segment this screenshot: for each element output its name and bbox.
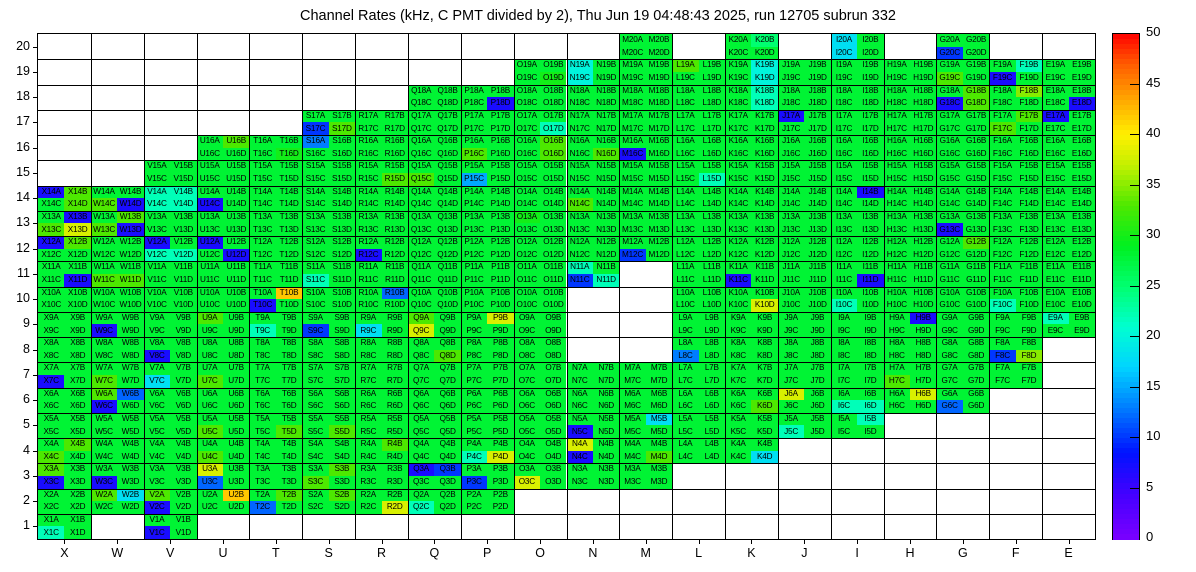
- heatmap-cell[interactable]: S17AS17BS17CS17D: [302, 110, 355, 135]
- heatmap-cell[interactable]: S6AS6BS6CS6D: [302, 388, 355, 413]
- heatmap-subcell[interactable]: X10C: [38, 299, 64, 312]
- heatmap-subcell[interactable]: E9C: [1042, 324, 1068, 337]
- heatmap-subcell[interactable]: T10D: [276, 299, 302, 312]
- heatmap-subcell[interactable]: E14C: [1042, 198, 1068, 211]
- heatmap-subcell[interactable]: S8C: [302, 350, 328, 363]
- heatmap-cell[interactable]: X1AX1BX1CX1D: [38, 514, 91, 539]
- heatmap-subcell[interactable]: Q3D: [434, 476, 460, 489]
- heatmap-subcell[interactable]: M18C: [619, 97, 645, 110]
- heatmap-subcell[interactable]: P17A: [461, 110, 487, 123]
- heatmap-cell[interactable]: N18AN18BN18CN18D: [567, 85, 620, 110]
- heatmap-cell[interactable]: G12AG12BG12CG12D: [936, 236, 989, 261]
- heatmap-subcell[interactable]: I19A: [831, 59, 857, 72]
- heatmap-subcell[interactable]: S8B: [329, 337, 355, 350]
- heatmap-subcell[interactable]: H19C: [884, 72, 910, 85]
- heatmap-subcell[interactable]: U12B: [223, 236, 249, 249]
- heatmap-subcell[interactable]: U6D: [223, 400, 249, 413]
- heatmap-subcell[interactable]: Q5B: [434, 413, 460, 426]
- heatmap-subcell[interactable]: S14C: [302, 198, 328, 211]
- heatmap-subcell[interactable]: P9B: [487, 312, 513, 325]
- heatmap-cell[interactable]: X11AX11BX11CX11D: [38, 261, 91, 286]
- heatmap-subcell[interactable]: M15A: [619, 160, 645, 173]
- heatmap-subcell[interactable]: O10D: [540, 299, 566, 312]
- heatmap-subcell[interactable]: X7D: [64, 375, 90, 388]
- heatmap-subcell[interactable]: O19C: [514, 72, 540, 85]
- heatmap-cell[interactable]: G11AG11BG11CG11D: [936, 261, 989, 286]
- heatmap-subcell[interactable]: K4A: [725, 438, 751, 451]
- heatmap-subcell[interactable]: U7B: [223, 362, 249, 375]
- heatmap-subcell[interactable]: U11A: [197, 261, 223, 274]
- heatmap-subcell[interactable]: Q6A: [408, 388, 434, 401]
- heatmap-subcell[interactable]: E9B: [1069, 312, 1095, 325]
- heatmap-subcell[interactable]: N3D: [593, 476, 619, 489]
- heatmap-subcell[interactable]: S11D: [329, 274, 355, 287]
- heatmap-subcell[interactable]: L19C: [672, 72, 698, 85]
- heatmap-subcell[interactable]: J10D: [804, 299, 830, 312]
- heatmap-subcell[interactable]: R2A: [355, 489, 381, 502]
- heatmap-subcell[interactable]: K8A: [725, 337, 751, 350]
- heatmap-subcell[interactable]: I8C: [831, 350, 857, 363]
- heatmap-subcell[interactable]: K7A: [725, 362, 751, 375]
- heatmap-subcell[interactable]: X13B: [64, 211, 90, 224]
- heatmap-subcell[interactable]: I14D: [857, 198, 883, 211]
- heatmap-subcell[interactable]: N7B: [593, 362, 619, 375]
- heatmap-cell[interactable]: V15AV15BV15CV15D: [144, 160, 197, 185]
- heatmap-subcell[interactable]: Q5D: [434, 425, 460, 438]
- heatmap-subcell[interactable]: P13A: [461, 211, 487, 224]
- heatmap-subcell[interactable]: U3C: [197, 476, 223, 489]
- heatmap-subcell[interactable]: Q6C: [408, 400, 434, 413]
- heatmap-cell[interactable]: F10AF10BF10CF10D: [989, 287, 1042, 312]
- heatmap-subcell[interactable]: L16D: [699, 148, 725, 161]
- heatmap-subcell[interactable]: L5A: [672, 413, 698, 426]
- heatmap-cell[interactable]: L5AL5BL5CL5D: [672, 413, 725, 438]
- heatmap-subcell[interactable]: J16D: [804, 148, 830, 161]
- heatmap-subcell[interactable]: I16C: [831, 148, 857, 161]
- heatmap-cell[interactable]: L17AL17BL17CL17D: [672, 110, 725, 135]
- heatmap-subcell[interactable]: L13D: [699, 223, 725, 236]
- heatmap-subcell[interactable]: V9A: [144, 312, 170, 325]
- heatmap-subcell[interactable]: P11C: [461, 274, 487, 287]
- heatmap-subcell[interactable]: Q13C: [408, 223, 434, 236]
- heatmap-subcell[interactable]: G7B: [963, 362, 989, 375]
- heatmap-cell[interactable]: X3AX3BX3CX3D: [38, 463, 91, 488]
- heatmap-subcell[interactable]: X14B: [64, 186, 90, 199]
- heatmap-subcell[interactable]: J6C: [778, 400, 804, 413]
- heatmap-subcell[interactable]: F8B: [1016, 337, 1042, 350]
- heatmap-subcell[interactable]: G15A: [936, 160, 962, 173]
- heatmap-cell[interactable]: U11AU11BU11CU11D: [197, 261, 250, 286]
- heatmap-subcell[interactable]: Q15B: [434, 160, 460, 173]
- heatmap-subcell[interactable]: R11A: [355, 261, 381, 274]
- heatmap-subcell[interactable]: I7B: [857, 362, 883, 375]
- heatmap-subcell[interactable]: O15B: [540, 160, 566, 173]
- heatmap-subcell[interactable]: V7A: [144, 362, 170, 375]
- heatmap-subcell[interactable]: P13D: [487, 223, 513, 236]
- heatmap-subcell[interactable]: S13B: [329, 211, 355, 224]
- heatmap-subcell[interactable]: P12D: [487, 249, 513, 262]
- heatmap-cell[interactable]: Q16AQ16BQ16CQ16D: [408, 135, 461, 160]
- heatmap-subcell[interactable]: P8B: [487, 337, 513, 350]
- heatmap-subcell[interactable]: N17B: [593, 110, 619, 123]
- heatmap-subcell[interactable]: I18A: [831, 85, 857, 98]
- heatmap-subcell[interactable]: F17C: [989, 122, 1015, 135]
- heatmap-subcell[interactable]: P12B: [487, 236, 513, 249]
- heatmap-subcell[interactable]: K14B: [751, 186, 777, 199]
- heatmap-cell[interactable]: H9AH9BH9CH9D: [884, 312, 937, 337]
- heatmap-subcell[interactable]: P16B: [487, 135, 513, 148]
- heatmap-subcell[interactable]: P8D: [487, 350, 513, 363]
- heatmap-subcell[interactable]: V14D: [170, 198, 196, 211]
- heatmap-subcell[interactable]: K16C: [725, 148, 751, 161]
- heatmap-cell[interactable]: W11AW11BW11CW11D: [91, 261, 144, 286]
- heatmap-subcell[interactable]: G7A: [936, 362, 962, 375]
- heatmap-subcell[interactable]: W7D: [117, 375, 143, 388]
- heatmap-subcell[interactable]: I18C: [831, 97, 857, 110]
- heatmap-subcell[interactable]: R6C: [355, 400, 381, 413]
- heatmap-subcell[interactable]: N19A: [567, 59, 593, 72]
- heatmap-subcell[interactable]: W4A: [91, 438, 117, 451]
- heatmap-cell[interactable]: S9AS9BS9CS9D: [302, 312, 355, 337]
- heatmap-subcell[interactable]: M7C: [619, 375, 645, 388]
- heatmap-subcell[interactable]: P2B: [487, 489, 513, 502]
- heatmap-subcell[interactable]: M14C: [619, 198, 645, 211]
- heatmap-subcell[interactable]: R4A: [355, 438, 381, 451]
- heatmap-subcell[interactable]: R8D: [382, 350, 408, 363]
- heatmap-subcell[interactable]: J18D: [804, 97, 830, 110]
- heatmap-subcell[interactable]: R11C: [355, 274, 381, 287]
- heatmap-subcell[interactable]: O19A: [514, 59, 540, 72]
- heatmap-subcell[interactable]: J10A: [778, 287, 804, 300]
- heatmap-subcell[interactable]: W12A: [91, 236, 117, 249]
- heatmap-subcell[interactable]: V5C: [144, 425, 170, 438]
- heatmap-subcell[interactable]: E15A: [1042, 160, 1068, 173]
- heatmap-subcell[interactable]: H10D: [910, 299, 936, 312]
- heatmap-cell[interactable]: K6AK6BK6CK6D: [725, 388, 778, 413]
- heatmap-subcell[interactable]: F14A: [989, 186, 1015, 199]
- heatmap-cell[interactable]: V9AV9BV9CV9D: [144, 312, 197, 337]
- heatmap-subcell[interactable]: X13D: [64, 223, 90, 236]
- heatmap-cell[interactable]: L15AL15BL15CL15D: [672, 160, 725, 185]
- heatmap-subcell[interactable]: O4D: [540, 451, 566, 464]
- heatmap-subcell[interactable]: M17D: [646, 122, 672, 135]
- heatmap-subcell[interactable]: V6B: [170, 388, 196, 401]
- heatmap-subcell[interactable]: O16C: [514, 148, 540, 161]
- heatmap-subcell[interactable]: S2B: [329, 489, 355, 502]
- heatmap-subcell[interactable]: Q2A: [408, 489, 434, 502]
- heatmap-subcell[interactable]: I6B: [857, 388, 883, 401]
- heatmap-subcell[interactable]: M19B: [646, 59, 672, 72]
- heatmap-subcell[interactable]: V12B: [170, 236, 196, 249]
- heatmap-subcell[interactable]: I8B: [857, 337, 883, 350]
- heatmap-subcell[interactable]: L4B: [699, 438, 725, 451]
- heatmap-cell[interactable]: V3AV3BV3CV3D: [144, 463, 197, 488]
- heatmap-subcell[interactable]: J6B: [804, 388, 830, 401]
- heatmap-subcell[interactable]: J6D: [804, 400, 830, 413]
- heatmap-subcell[interactable]: F19B: [1016, 59, 1042, 72]
- heatmap-subcell[interactable]: K7B: [751, 362, 777, 375]
- heatmap-subcell[interactable]: G9C: [936, 324, 962, 337]
- heatmap-cell[interactable]: L16AL16BL16CL16D: [672, 135, 725, 160]
- heatmap-subcell[interactable]: I14B: [857, 186, 883, 199]
- heatmap-subcell[interactable]: X5C: [38, 425, 64, 438]
- heatmap-subcell[interactable]: F15D: [1016, 173, 1042, 186]
- heatmap-subcell[interactable]: L17A: [672, 110, 698, 123]
- heatmap-subcell[interactable]: Q11C: [408, 274, 434, 287]
- heatmap-subcell[interactable]: P7A: [461, 362, 487, 375]
- heatmap-cell[interactable]: E10AE10BE10CE10D: [1042, 287, 1095, 312]
- heatmap-subcell[interactable]: F12C: [989, 249, 1015, 262]
- heatmap-cell[interactable]: N17AN17BN17CN17D: [567, 110, 620, 135]
- heatmap-subcell[interactable]: Q11D: [434, 274, 460, 287]
- heatmap-subcell[interactable]: R13D: [382, 223, 408, 236]
- heatmap-subcell[interactable]: W6A: [91, 388, 117, 401]
- heatmap-cell[interactable]: H17AH17BH17CH17D: [884, 110, 937, 135]
- heatmap-subcell[interactable]: J14D: [804, 198, 830, 211]
- heatmap-subcell[interactable]: V10C: [144, 299, 170, 312]
- heatmap-subcell[interactable]: H8A: [884, 337, 910, 350]
- heatmap-subcell[interactable]: N12B: [593, 236, 619, 249]
- heatmap-cell[interactable]: N11AN11BN11CN11D: [567, 261, 620, 286]
- heatmap-subcell[interactable]: X11C: [38, 274, 64, 287]
- heatmap-subcell[interactable]: J9D: [804, 324, 830, 337]
- heatmap-cell[interactable]: L6AL6BL6CL6D: [672, 388, 725, 413]
- heatmap-subcell[interactable]: M16C: [619, 148, 645, 161]
- heatmap-subcell[interactable]: Q18D: [434, 97, 460, 110]
- heatmap-subcell[interactable]: Q12D: [434, 249, 460, 262]
- heatmap-subcell[interactable]: U6C: [197, 400, 223, 413]
- heatmap-subcell[interactable]: N16B: [593, 135, 619, 148]
- heatmap-cell[interactable]: Q6AQ6BQ6CQ6D: [408, 388, 461, 413]
- heatmap-cell[interactable]: I20AI20BI20CI20D: [831, 34, 884, 59]
- heatmap-subcell[interactable]: L7B: [699, 362, 725, 375]
- heatmap-subcell[interactable]: U14B: [223, 186, 249, 199]
- heatmap-subcell[interactable]: U11B: [223, 261, 249, 274]
- heatmap-cell[interactable]: L11AL11BL11CL11D: [672, 261, 725, 286]
- heatmap-subcell[interactable]: Q2B: [434, 489, 460, 502]
- heatmap-subcell[interactable]: E10C: [1042, 299, 1068, 312]
- heatmap-subcell[interactable]: M13A: [619, 211, 645, 224]
- heatmap-cell[interactable]: R16AR16BR16CR16D: [355, 135, 408, 160]
- heatmap-subcell[interactable]: R15B: [382, 160, 408, 173]
- heatmap-subcell[interactable]: U2C: [197, 501, 223, 514]
- heatmap-subcell[interactable]: V4C: [144, 451, 170, 464]
- heatmap-subcell[interactable]: X12A: [38, 236, 64, 249]
- heatmap-cell[interactable]: T7AT7BT7CT7D: [249, 362, 302, 387]
- heatmap-cell[interactable]: X4AX4BX4CX4D: [38, 438, 91, 463]
- heatmap-subcell[interactable]: S5C: [302, 425, 328, 438]
- heatmap-subcell[interactable]: J13C: [778, 223, 804, 236]
- heatmap-subcell[interactable]: H15A: [884, 160, 910, 173]
- heatmap-subcell[interactable]: S12D: [329, 249, 355, 262]
- heatmap-subcell[interactable]: R5A: [355, 413, 381, 426]
- heatmap-cell[interactable]: W7AW7BW7CW7D: [91, 362, 144, 387]
- heatmap-cell[interactable]: J10AJ10BJ10CJ10D: [778, 287, 831, 312]
- heatmap-subcell[interactable]: O8A: [514, 337, 540, 350]
- heatmap-cell[interactable]: I15AI15BI15CI15D: [831, 160, 884, 185]
- heatmap-cell[interactable]: L4AL4BL4CL4D: [672, 438, 725, 463]
- heatmap-subcell[interactable]: I15D: [857, 173, 883, 186]
- heatmap-subcell[interactable]: X6A: [38, 388, 64, 401]
- heatmap-subcell[interactable]: O13D: [540, 223, 566, 236]
- heatmap-subcell[interactable]: F16A: [989, 135, 1015, 148]
- heatmap-subcell[interactable]: R17A: [355, 110, 381, 123]
- heatmap-subcell[interactable]: Q9C: [408, 324, 434, 337]
- heatmap-subcell[interactable]: T15B: [276, 160, 302, 173]
- heatmap-subcell[interactable]: H13A: [884, 211, 910, 224]
- heatmap-subcell[interactable]: H6A: [884, 388, 910, 401]
- heatmap-subcell[interactable]: O8C: [514, 350, 540, 363]
- heatmap-subcell[interactable]: H18B: [910, 85, 936, 98]
- heatmap-subcell[interactable]: R5B: [382, 413, 408, 426]
- heatmap-cell[interactable]: E15AE15BE15CE15D: [1042, 160, 1095, 185]
- heatmap-subcell[interactable]: F11C: [989, 274, 1015, 287]
- heatmap-subcell[interactable]: L14B: [699, 186, 725, 199]
- heatmap-subcell[interactable]: F14D: [1016, 198, 1042, 211]
- heatmap-subcell[interactable]: P13B: [487, 211, 513, 224]
- heatmap-cell[interactable]: W14AW14BW14CW14D: [91, 186, 144, 211]
- heatmap-subcell[interactable]: V5B: [170, 413, 196, 426]
- heatmap-subcell[interactable]: S8A: [302, 337, 328, 350]
- heatmap-subcell[interactable]: U11C: [197, 274, 223, 287]
- heatmap-cell[interactable]: K16AK16BK16CK16D: [725, 135, 778, 160]
- heatmap-subcell[interactable]: E18C: [1042, 97, 1068, 110]
- heatmap-subcell[interactable]: V7D: [170, 375, 196, 388]
- heatmap-subcell[interactable]: J8B: [804, 337, 830, 350]
- heatmap-subcell[interactable]: E13B: [1069, 211, 1095, 224]
- heatmap-cell[interactable]: F13AF13BF13CF13D: [989, 211, 1042, 236]
- heatmap-cell[interactable]: O6AO6BO6CO6D: [514, 388, 567, 413]
- heatmap-subcell[interactable]: J19A: [778, 59, 804, 72]
- heatmap-subcell[interactable]: R14B: [382, 186, 408, 199]
- heatmap-subcell[interactable]: O6C: [514, 400, 540, 413]
- heatmap-subcell[interactable]: T5C: [249, 425, 275, 438]
- heatmap-cell[interactable]: M6AM6BM6CM6D: [619, 388, 672, 413]
- heatmap-subcell[interactable]: H17D: [910, 122, 936, 135]
- heatmap-cell[interactable]: F18AF18BF18CF18D: [989, 85, 1042, 110]
- heatmap-subcell[interactable]: H11D: [910, 274, 936, 287]
- heatmap-subcell[interactable]: K20C: [725, 47, 751, 60]
- heatmap-subcell[interactable]: T14B: [276, 186, 302, 199]
- heatmap-subcell[interactable]: U6A: [197, 388, 223, 401]
- heatmap-subcell[interactable]: O13C: [514, 223, 540, 236]
- heatmap-subcell[interactable]: T2C: [249, 501, 275, 514]
- heatmap-cell[interactable]: S8AS8BS8CS8D: [302, 337, 355, 362]
- heatmap-subcell[interactable]: W3B: [117, 463, 143, 476]
- heatmap-subcell[interactable]: J13B: [804, 211, 830, 224]
- heatmap-subcell[interactable]: L14A: [672, 186, 698, 199]
- heatmap-cell[interactable]: R2AR2BR2CR2D: [355, 489, 408, 514]
- heatmap-subcell[interactable]: W6B: [117, 388, 143, 401]
- heatmap-subcell[interactable]: L5B: [699, 413, 725, 426]
- heatmap-subcell[interactable]: K5A: [725, 413, 751, 426]
- heatmap-subcell[interactable]: W11C: [91, 274, 117, 287]
- heatmap-subcell[interactable]: Q17A: [408, 110, 434, 123]
- heatmap-subcell[interactable]: K10D: [751, 299, 777, 312]
- heatmap-subcell[interactable]: H17B: [910, 110, 936, 123]
- heatmap-subcell[interactable]: V3C: [144, 476, 170, 489]
- heatmap-subcell[interactable]: M13B: [646, 211, 672, 224]
- heatmap-subcell[interactable]: S4D: [329, 451, 355, 464]
- heatmap-subcell[interactable]: U7A: [197, 362, 223, 375]
- heatmap-cell[interactable]: V4AV4BV4CV4D: [144, 438, 197, 463]
- heatmap-subcell[interactable]: T4B: [276, 438, 302, 451]
- heatmap-subcell[interactable]: S4B: [329, 438, 355, 451]
- heatmap-cell[interactable]: L18AL18BL18CL18D: [672, 85, 725, 110]
- heatmap-subcell[interactable]: O12D: [540, 249, 566, 262]
- heatmap-subcell[interactable]: M17C: [619, 122, 645, 135]
- heatmap-subcell[interactable]: G13B: [963, 211, 989, 224]
- heatmap-subcell[interactable]: G16B: [963, 135, 989, 148]
- heatmap-subcell[interactable]: H19A: [884, 59, 910, 72]
- heatmap-subcell[interactable]: K19A: [725, 59, 751, 72]
- heatmap-subcell[interactable]: U14C: [197, 198, 223, 211]
- heatmap-cell[interactable]: T15AT15BT15CT15D: [249, 160, 302, 185]
- heatmap-subcell[interactable]: M17B: [646, 110, 672, 123]
- heatmap-cell[interactable]: T10AT10BT10CT10D: [249, 287, 302, 312]
- heatmap-cell[interactable]: M14AM14BM14CM14D: [619, 186, 672, 211]
- heatmap-cell[interactable]: R8AR8BR8CR8D: [355, 337, 408, 362]
- heatmap-subcell[interactable]: N18C: [567, 97, 593, 110]
- heatmap-subcell[interactable]: G8C: [936, 350, 962, 363]
- heatmap-cell[interactable]: Q3AQ3BQ3CQ3D: [408, 463, 461, 488]
- heatmap-subcell[interactable]: E19D: [1069, 72, 1095, 85]
- heatmap-subcell[interactable]: E13D: [1069, 223, 1095, 236]
- heatmap-subcell[interactable]: V1D: [170, 526, 196, 539]
- heatmap-subcell[interactable]: V6A: [144, 388, 170, 401]
- heatmap-subcell[interactable]: I7A: [831, 362, 857, 375]
- heatmap-cell[interactable]: W5AW5BW5CW5D: [91, 413, 144, 438]
- heatmap-subcell[interactable]: Q7C: [408, 375, 434, 388]
- heatmap-subcell[interactable]: X11D: [64, 274, 90, 287]
- heatmap-subcell[interactable]: T5A: [249, 413, 275, 426]
- heatmap-cell[interactable]: Q17AQ17BQ17CQ17D: [408, 110, 461, 135]
- heatmap-subcell[interactable]: G20D: [963, 47, 989, 60]
- heatmap-subcell[interactable]: F10D: [1016, 299, 1042, 312]
- heatmap-subcell[interactable]: K17B: [751, 110, 777, 123]
- heatmap-subcell[interactable]: X2D: [64, 501, 90, 514]
- heatmap-subcell[interactable]: X2A: [38, 489, 64, 502]
- heatmap-subcell[interactable]: R16B: [382, 135, 408, 148]
- heatmap-cell[interactable]: E11AE11BE11CE11D: [1042, 261, 1095, 286]
- heatmap-subcell[interactable]: V4B: [170, 438, 196, 451]
- heatmap-subcell[interactable]: G10B: [963, 287, 989, 300]
- heatmap-cell[interactable]: R4AR4BR4CR4D: [355, 438, 408, 463]
- heatmap-subcell[interactable]: Q15A: [408, 160, 434, 173]
- heatmap-subcell[interactable]: I13D: [857, 223, 883, 236]
- heatmap-subcell[interactable]: F10B: [1016, 287, 1042, 300]
- heatmap-subcell[interactable]: F8C: [989, 350, 1015, 363]
- heatmap-subcell[interactable]: P2A: [461, 489, 487, 502]
- heatmap-subcell[interactable]: L16C: [672, 148, 698, 161]
- heatmap-cell[interactable]: F16AF16BF16CF16D: [989, 135, 1042, 160]
- heatmap-subcell[interactable]: K6B: [751, 388, 777, 401]
- heatmap-cell[interactable]: I12AI12BI12CI12D: [831, 236, 884, 261]
- heatmap-subcell[interactable]: N11B: [593, 261, 619, 274]
- heatmap-subcell[interactable]: I10D: [857, 299, 883, 312]
- heatmap-subcell[interactable]: U9A: [197, 312, 223, 325]
- heatmap-subcell[interactable]: G11C: [936, 274, 962, 287]
- heatmap-cell[interactable]: V1AV1BV1CV1D: [144, 514, 197, 539]
- heatmap-subcell[interactable]: Q11A: [408, 261, 434, 274]
- heatmap-subcell[interactable]: K15D: [751, 173, 777, 186]
- heatmap-subcell[interactable]: O16A: [514, 135, 540, 148]
- heatmap-cell[interactable]: U4AU4BU4CU4D: [197, 438, 250, 463]
- heatmap-subcell[interactable]: H15B: [910, 160, 936, 173]
- heatmap-cell[interactable]: L12AL12BL12CL12D: [672, 236, 725, 261]
- heatmap-subcell[interactable]: H11C: [884, 274, 910, 287]
- heatmap-subcell[interactable]: R12D: [382, 249, 408, 262]
